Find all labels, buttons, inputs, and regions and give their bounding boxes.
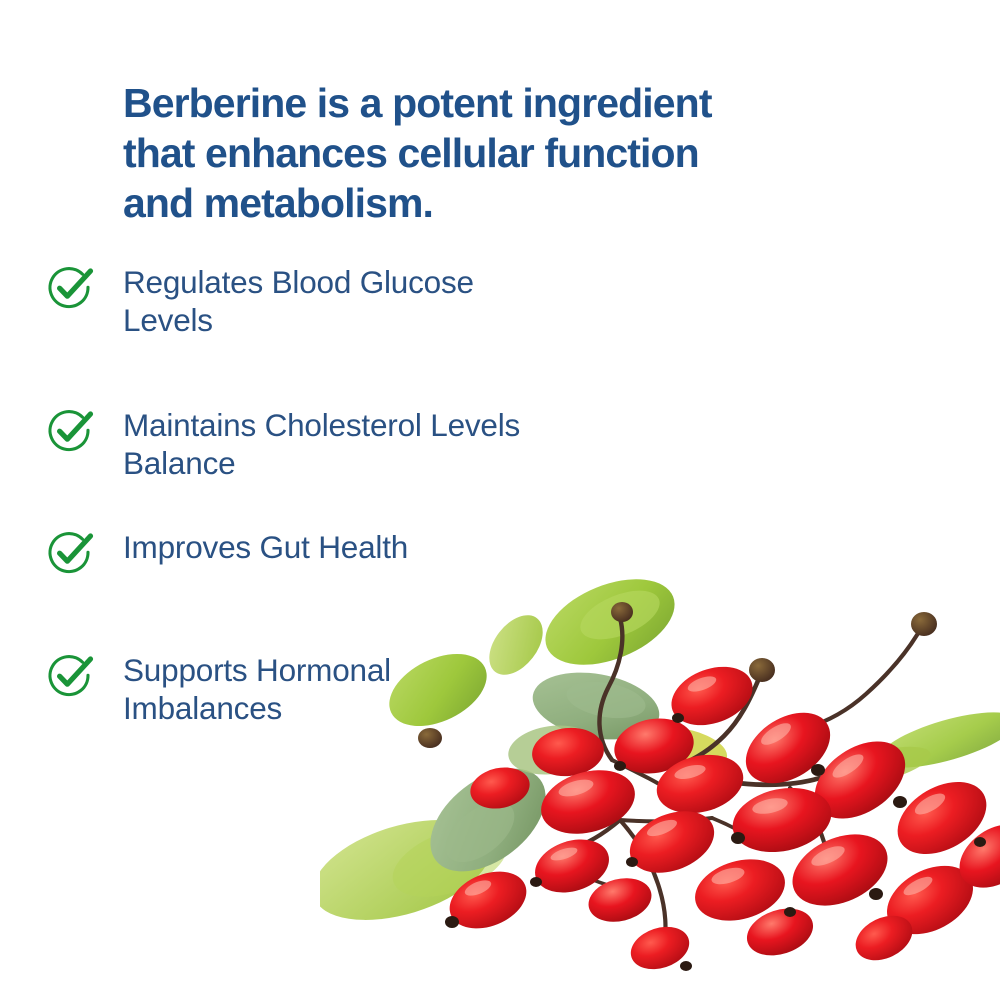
list-item-label-line-1: Supports Hormonal (123, 651, 391, 689)
headline-line-2: that enhances cellular function (123, 128, 883, 178)
page-title: Berberine is a potent ingredient that en… (123, 78, 883, 228)
list-item: Supports Hormonal Imbalances (46, 650, 391, 727)
headline-line-1: Berberine is a potent ingredient (123, 78, 883, 128)
list-item: Improves Gut Health (46, 527, 408, 577)
list-item-label: Improves Gut Health (123, 527, 408, 566)
stems-group (566, 618, 920, 952)
list-item-label-line-1: Improves Gut Health (123, 528, 408, 566)
list-item-label-line-2: Levels (123, 301, 474, 339)
list-item-label-line-2: Imbalances (123, 689, 391, 727)
berries-group (441, 656, 1000, 976)
list-item: Maintains Cholesterol Levels Balance (46, 405, 520, 482)
list-item-label: Maintains Cholesterol Levels Balance (123, 405, 520, 482)
list-item-label-line-1: Maintains Cholesterol Levels (123, 406, 520, 444)
list-item-label-line-2: Balance (123, 444, 520, 482)
headline-line-3: and metabolism. (123, 178, 883, 228)
leaves-group (320, 570, 1000, 939)
list-item-label: Supports Hormonal Imbalances (123, 650, 391, 727)
list-item-label-line-1: Regulates Blood Glucose (123, 263, 474, 301)
list-item: Regulates Blood Glucose Levels (46, 262, 474, 339)
calyx-dots-group (445, 713, 986, 971)
circle-check-icon (46, 264, 94, 312)
barberry-branch-image (320, 570, 1000, 1000)
circle-check-icon (46, 529, 94, 577)
list-item-label: Regulates Blood Glucose Levels (123, 262, 474, 339)
circle-check-icon (46, 652, 94, 700)
buds-group (418, 602, 937, 748)
circle-check-icon (46, 407, 94, 455)
